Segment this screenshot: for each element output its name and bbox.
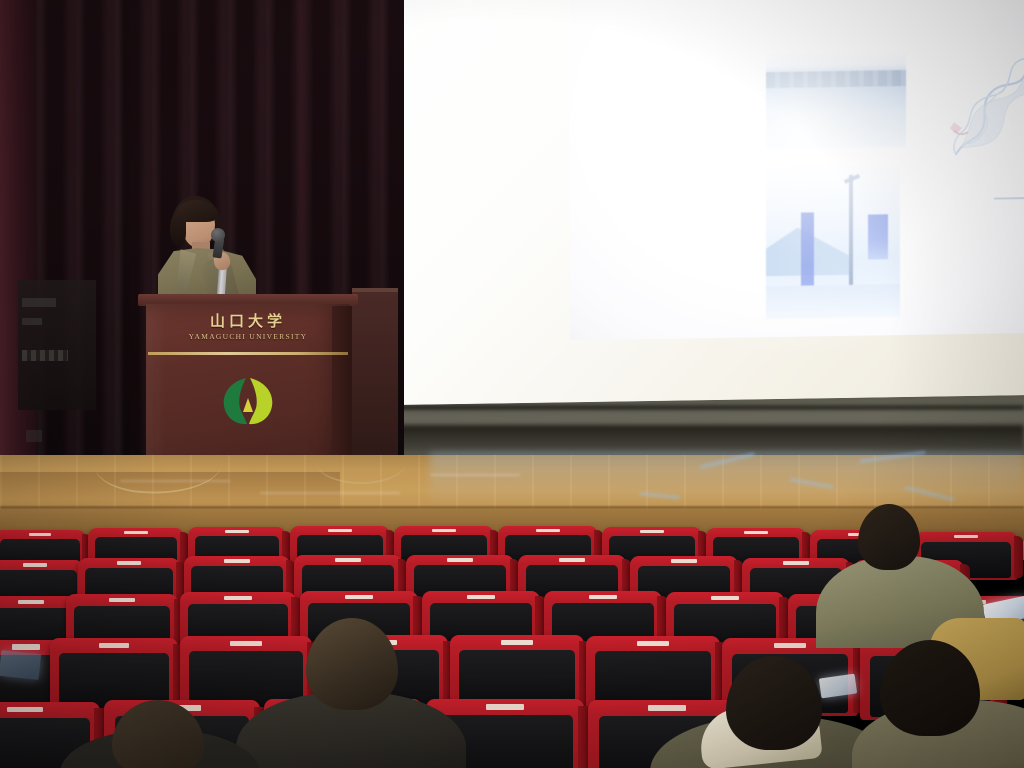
street-roadway <box>766 284 900 320</box>
attendee-cream-scarf-head <box>726 656 822 750</box>
podium-gold-trim <box>148 352 348 355</box>
seat-number-plate <box>536 529 560 532</box>
attendee-back-left-head <box>112 700 204 768</box>
seat-number-plate <box>711 596 739 600</box>
seat-number-plate <box>345 595 373 599</box>
seat-number-plate <box>774 643 807 648</box>
seat-number-plate <box>224 596 252 600</box>
seat-number-plate <box>467 595 495 599</box>
seat-number-plate <box>225 530 249 533</box>
rack-panel <box>26 430 42 442</box>
projected-slide-area: faint blue heading (illegible) faint blu… <box>570 0 1024 340</box>
attendee-center-right-head <box>880 640 980 736</box>
slide-street-photo <box>766 165 900 319</box>
curtain-left-edge <box>0 0 36 486</box>
stage-monitor-top-edge <box>352 288 398 292</box>
seat-number-plate <box>117 561 141 565</box>
seat-number-plate <box>640 530 664 533</box>
seat-number-plate <box>486 704 524 710</box>
seat-number-plate <box>12 644 41 649</box>
seat-number-plate <box>124 531 147 534</box>
seat-number-plate <box>501 640 533 645</box>
floor-scuff <box>430 474 520 476</box>
seat-number-plate <box>109 598 136 602</box>
projection-screen: faint blue heading (illegible) faint blu… <box>392 0 1024 405</box>
seat-number-plate <box>432 529 456 532</box>
dam-water <box>766 86 906 150</box>
seat-number-plate <box>335 558 361 562</box>
tablet-screen-left[interactable] <box>0 650 41 680</box>
rack-panel <box>22 298 56 307</box>
podium-name-japanese: 山口大学 <box>146 310 350 331</box>
seat-number-plate <box>224 559 249 563</box>
slide-dam-photo <box>766 51 906 149</box>
curtain-fold <box>118 0 125 470</box>
wall-seam <box>330 405 1024 410</box>
seat-number-plate <box>671 559 697 563</box>
attendee-front-left-head <box>306 618 398 710</box>
seat-number-plate <box>7 707 43 713</box>
presenter-hair-side <box>170 212 186 246</box>
seat-number-plate <box>328 529 352 532</box>
seat-number-plate <box>783 561 809 565</box>
auditorium-scene: faint blue heading (illegible) faint blu… <box>0 0 1024 768</box>
attendee-olive-jacket-head <box>858 504 920 570</box>
seat-number-plate <box>648 705 686 711</box>
rack-panel <box>22 318 42 325</box>
watershed-map-icon <box>938 33 1024 206</box>
yamaguchi-university-logo-icon <box>216 368 280 432</box>
stage-cable <box>316 440 406 484</box>
seat-number-plate <box>744 531 768 534</box>
seat-number-plate <box>230 641 262 646</box>
seat-number-plate <box>23 563 47 567</box>
podium-name-english: YAMAGUCHI UNIVERSITY <box>146 332 350 341</box>
seat-number-plate <box>954 535 979 538</box>
rack-panel <box>22 350 68 361</box>
seat-number-plate <box>447 558 473 562</box>
seat-number-plate <box>559 558 585 562</box>
seat-number-plate <box>99 643 130 648</box>
floor-scuff <box>260 492 400 494</box>
street-information-panel <box>868 214 888 260</box>
seat-number-plate <box>18 600 43 604</box>
seat-number-plate <box>29 533 51 536</box>
seat-number-plate <box>637 641 669 646</box>
seat-number-plate <box>589 595 617 599</box>
wall-base-shadow <box>330 425 1024 451</box>
